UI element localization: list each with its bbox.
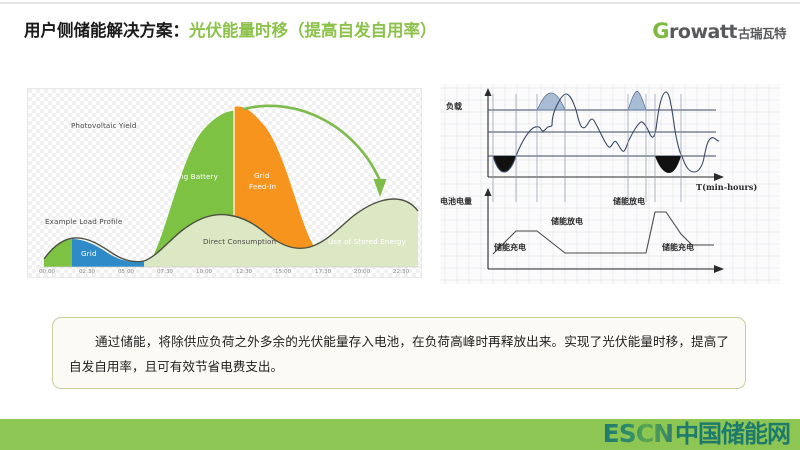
xtick-0: 00:00: [39, 269, 55, 275]
load-soc-chart: 负载 T(min-hours) 电池电量 储能充电 储能放电 储能放电 储能充电: [440, 84, 780, 284]
page-title-accent: 光伏能量时移（提高自发自用率）: [189, 21, 437, 40]
page-title-primary: 用户侧储能解决方案：: [24, 21, 189, 40]
xtick-4: 10:00: [196, 269, 212, 275]
xtick-9: 22:30: [393, 269, 409, 275]
time-axis-label: T(min-hours): [696, 182, 757, 192]
slide-canvas: 用户侧储能解决方案：光伏能量时移（提高自发自用率） Growatt古瑞瓦特: [0, 0, 800, 450]
xtick-3: 07:30: [157, 269, 173, 275]
xtick-1: 02:30: [79, 269, 95, 275]
growatt-logo: Growatt古瑞瓦特: [652, 21, 786, 42]
top-divider: [0, 2, 800, 4]
soc-annotation-discharge-1: 储能放电: [551, 216, 583, 227]
label-example-load-profile: Example Load Profile: [45, 217, 122, 226]
slide-header: 用户侧储能解决方案：光伏能量时移（提高自发自用率） Growatt古瑞瓦特: [0, 10, 800, 50]
escn-brand: ESCN中国储能网: [603, 421, 790, 446]
summary-callout: 通过储能，将除供应负荷之外多余的光伏能量存入电池，在负荷高峰时再释放出来。实现了…: [52, 317, 746, 389]
soc-annotation-discharge-2: 储能放电: [613, 196, 645, 207]
label-charging-battery: Charging Battery: [155, 172, 218, 181]
logo-chinese-name: 古瑞瓦特: [738, 26, 786, 41]
xtick-7: 17:30: [315, 269, 331, 275]
soc-annotation-charge-2: 储能充电: [662, 242, 694, 253]
label-grid-feed-in-line2: Feed-In: [249, 182, 276, 191]
escn-wordmark: ESCN: [603, 419, 673, 448]
load-axis-label: 负载: [446, 101, 462, 112]
pv-self-consumption-chart: Photovoltaic Yield Charging Battery Grid…: [27, 88, 422, 278]
label-grid: Grid: [81, 249, 96, 258]
label-direct-consumption: Direct Consumption: [203, 237, 276, 246]
xtick-2: 05:00: [118, 269, 134, 275]
logo-wordmark: rowatt: [669, 21, 737, 43]
soc-annotation-charge-1: 储能充电: [494, 242, 526, 253]
label-use-of-stored-energy: Use of Stored Energy: [328, 237, 406, 246]
footer-bar: ESCN中国储能网: [0, 419, 800, 450]
xtick-5: 12:30: [236, 269, 252, 275]
label-grid-feed-in-line1: Grid: [254, 171, 269, 180]
xtick-8: 20:00: [354, 269, 370, 275]
summary-text: 通过储能，将除供应负荷之外多余的光伏能量存入电池，在负荷高峰时再释放出来。实现了…: [69, 330, 729, 379]
logo-initial: G: [652, 19, 669, 43]
escn-chinese-name: 中国储能网: [675, 420, 790, 448]
energy-shift-arrow-head: [374, 179, 387, 197]
label-photovoltaic-yield: Photovoltaic Yield: [71, 121, 137, 130]
page-title: 用户侧储能解决方案：光伏能量时移（提高自发自用率）: [24, 17, 437, 41]
xtick-6: 15:00: [275, 269, 291, 275]
battery-soc-axis-label: 电池电量: [440, 196, 472, 207]
